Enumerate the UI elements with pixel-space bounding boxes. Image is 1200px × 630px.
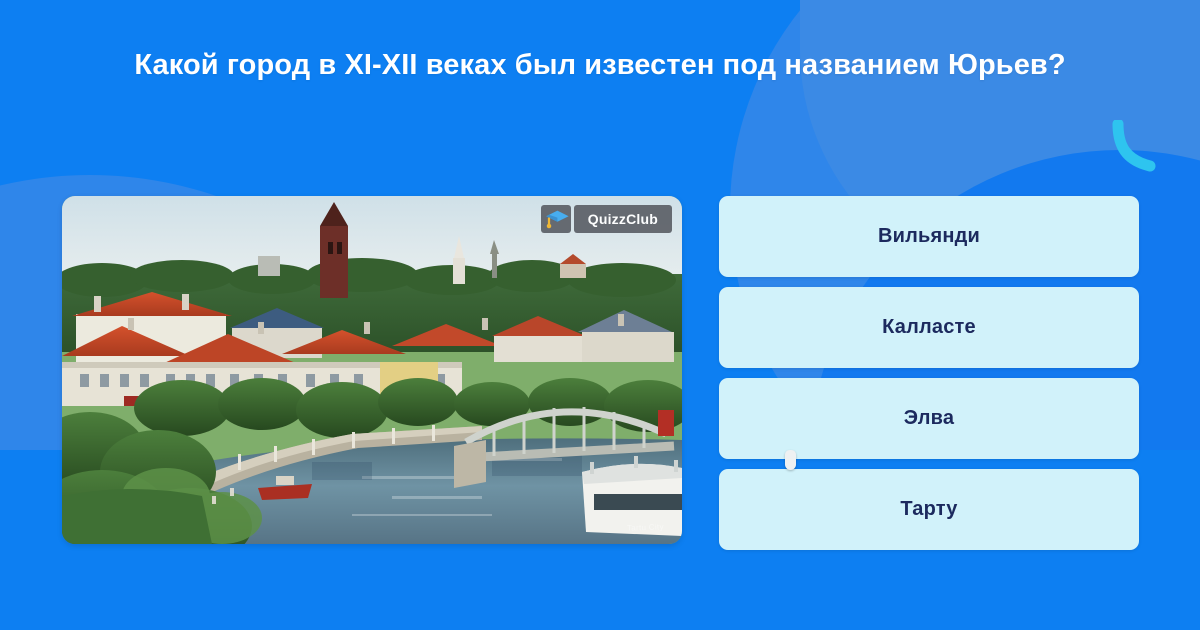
quizzclub-watermark: QuizzClub <box>541 205 672 233</box>
question-card: Какой город в XI-XII веках был известен … <box>0 0 1200 630</box>
quizzclub-brand-label: QuizzClub <box>574 205 672 233</box>
swoosh-accent-icon <box>1110 120 1164 174</box>
answer-option-4[interactable]: Тарту <box>719 469 1139 550</box>
question-title: Какой город в XI-XII веках был известен … <box>60 44 1140 86</box>
scroll-handle[interactable] <box>785 450 796 470</box>
answer-option-2[interactable]: Калласте <box>719 287 1139 368</box>
question-image: QuizzClub Tartu City <box>62 196 682 544</box>
photo-credit: Tartu City <box>627 522 664 532</box>
graduation-cap-icon <box>541 205 571 233</box>
answer-option-1[interactable]: Вильянди <box>719 196 1139 277</box>
answer-options-list: Вильянди Калласте Элва Тарту <box>719 196 1139 550</box>
answer-option-3[interactable]: Элва <box>719 378 1139 459</box>
